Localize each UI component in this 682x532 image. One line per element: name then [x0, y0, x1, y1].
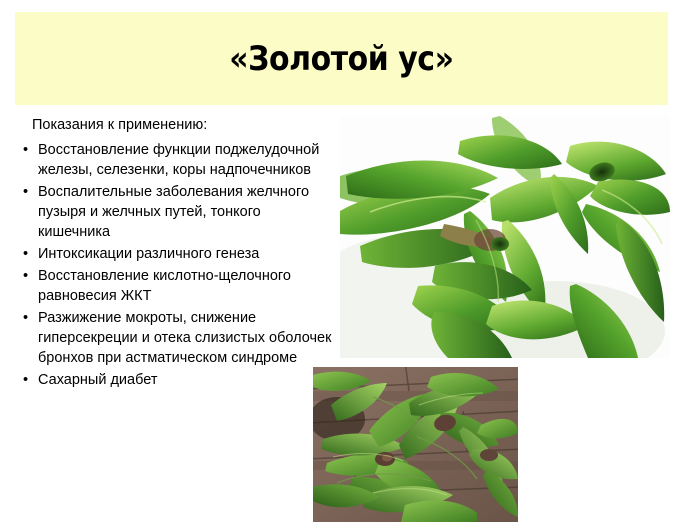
habit-illustration: [313, 367, 518, 522]
list-item-label: Восстановление кислотно-щелочного равнов…: [38, 268, 291, 304]
closeup-illustration: [340, 116, 670, 358]
bullet-icon: •: [23, 244, 28, 264]
list-item-label: Восстановление функции поджелудочной жел…: [38, 142, 319, 178]
indications-content: Показания к применению: • Восстановление…: [14, 116, 336, 392]
list-item: • Восстановление кислотно-щелочного равн…: [14, 266, 336, 306]
callisia-fragrans-leaves-closeup-image: [340, 116, 670, 358]
bullet-icon: •: [23, 370, 28, 390]
list-item-label: Разжижение мокроты, снижение гиперсекрец…: [38, 310, 331, 366]
bullet-icon: •: [23, 266, 28, 286]
page-title: «Золотой ус»: [229, 42, 453, 76]
list-item-label: Воспалительные заболевания желчного пузы…: [38, 184, 309, 240]
list-item: • Воспалительные заболевания желчного пу…: [14, 182, 336, 242]
list-item: • Разжижение мокроты, снижение гиперсекр…: [14, 308, 336, 368]
list-item: • Восстановление функции поджелудочной ж…: [14, 140, 336, 180]
indications-list: • Восстановление функции поджелудочной ж…: [14, 140, 336, 390]
callisia-fragrans-plant-on-deck-image: [313, 367, 518, 522]
list-item: • Интоксикации различного генеза: [14, 244, 336, 264]
bullet-icon: •: [23, 182, 28, 202]
title-banner: «Золотой ус»: [15, 12, 668, 105]
list-item-label: Интоксикации различного генеза: [38, 246, 259, 262]
bullet-icon: •: [23, 140, 28, 160]
bullet-icon: •: [23, 308, 28, 328]
list-item-label: Сахарный диабет: [38, 372, 157, 388]
list-item: • Сахарный диабет: [14, 370, 336, 390]
indications-heading: Показания к применению:: [14, 116, 336, 136]
